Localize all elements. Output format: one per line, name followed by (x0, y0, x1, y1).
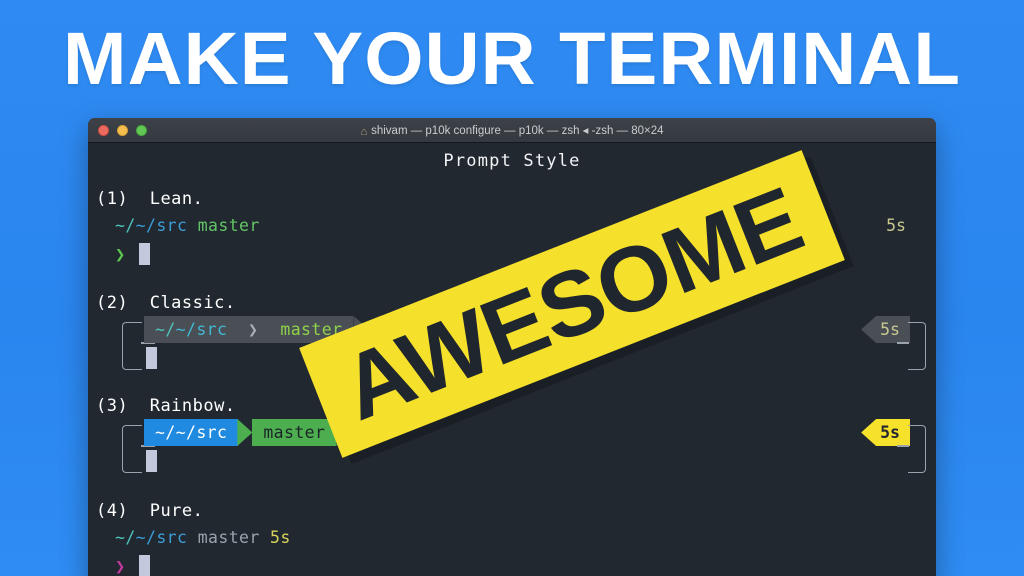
window-title: ⌂shivam — p10k configure — p10k — zsh ◂ … (88, 123, 936, 138)
rainbow-branch-segment: master (252, 419, 336, 446)
window-title-label: shivam — p10k configure — p10k — zsh ◂ -… (371, 125, 663, 137)
house-icon: ⌂ (360, 126, 367, 138)
space (260, 528, 270, 547)
space (187, 528, 197, 547)
pure-timer: 5s (270, 528, 291, 547)
branch-text: master (263, 423, 325, 442)
option-label: Classic. (150, 293, 236, 313)
path-text: ~/src (176, 423, 228, 442)
path-text: ~/src (176, 320, 228, 339)
cursor-block (139, 243, 150, 265)
option-title-pure: (4) Pure. (88, 501, 936, 521)
minimize-button[interactable] (117, 125, 128, 136)
traffic-light-group (98, 125, 147, 136)
rainbow-cursor-row (88, 449, 936, 478)
tilde-glyph: ~/ (155, 320, 176, 339)
option-number: (3) (96, 396, 128, 416)
powerline-left-arrow-icon (861, 316, 876, 343)
branch-text: master (198, 528, 260, 547)
powerline-left-arrow-icon (861, 419, 876, 446)
option-label: Rainbow. (150, 396, 236, 416)
tilde-glyph: ~/ (115, 216, 136, 235)
rainbow-powerline: ~/~/src master (144, 419, 352, 446)
classic-path-segment: ~/~/src ❯ (144, 316, 269, 343)
option-number: (4) (96, 501, 128, 521)
cursor-block (146, 450, 157, 472)
headline-text: MAKE YOUR TERMINAL (0, 16, 1024, 102)
rainbow-timer-badge: 5s (861, 419, 910, 446)
space (187, 216, 197, 235)
rainbow-path-segment: ~/~/src (144, 419, 238, 446)
option-label: Pure. (150, 501, 204, 521)
rainbow-prompt-row: ~/~/src master 5s (88, 419, 936, 449)
option-label: Lean. (150, 189, 204, 209)
prompt-char-lean: ❯ (115, 245, 125, 265)
cursor-block (146, 347, 157, 369)
option-title-rainbow: (3) Rainbow. (88, 396, 936, 416)
path-text: ~/src (136, 216, 188, 235)
space (227, 320, 248, 339)
close-button[interactable] (98, 125, 109, 136)
tilde-glyph: ~/ (155, 423, 176, 442)
rainbow-timer-text: 5s (876, 419, 910, 446)
pure-path-branch-timer: ~/~/src master 5s (115, 528, 291, 547)
prompt-option-pure[interactable]: (4) Pure. ~/~/src master 5s ❯ (88, 501, 936, 576)
segment-separator-icon: ❯ (248, 320, 258, 339)
classic-timer-text: 5s (876, 316, 910, 343)
prompt-option-rainbow[interactable]: (3) Rainbow. ~/~/src master 5s (88, 396, 936, 478)
classic-timer-badge: 5s (861, 316, 910, 343)
prompt-char-pure: ❯ (115, 557, 125, 576)
branch-text: master (198, 216, 260, 235)
window-title-bar[interactable]: ⌂shivam — p10k configure — p10k — zsh ◂ … (88, 118, 936, 143)
option-number: (2) (96, 293, 128, 313)
powerline-arrow-icon (237, 419, 252, 446)
pure-prompt-line-1: ~/~/src master 5s (88, 525, 936, 554)
option-number: (1) (96, 189, 128, 209)
lean-path-branch: ~/~/src master (115, 216, 260, 235)
cursor-block (139, 555, 150, 576)
page-title: Prompt Style (88, 143, 936, 171)
tilde-glyph: ~/ (115, 528, 136, 547)
pure-prompt-line-2: ❯ (88, 554, 936, 576)
zoom-button[interactable] (136, 125, 147, 136)
path-text: ~/src (136, 528, 188, 547)
lean-timer: 5s (886, 216, 906, 235)
